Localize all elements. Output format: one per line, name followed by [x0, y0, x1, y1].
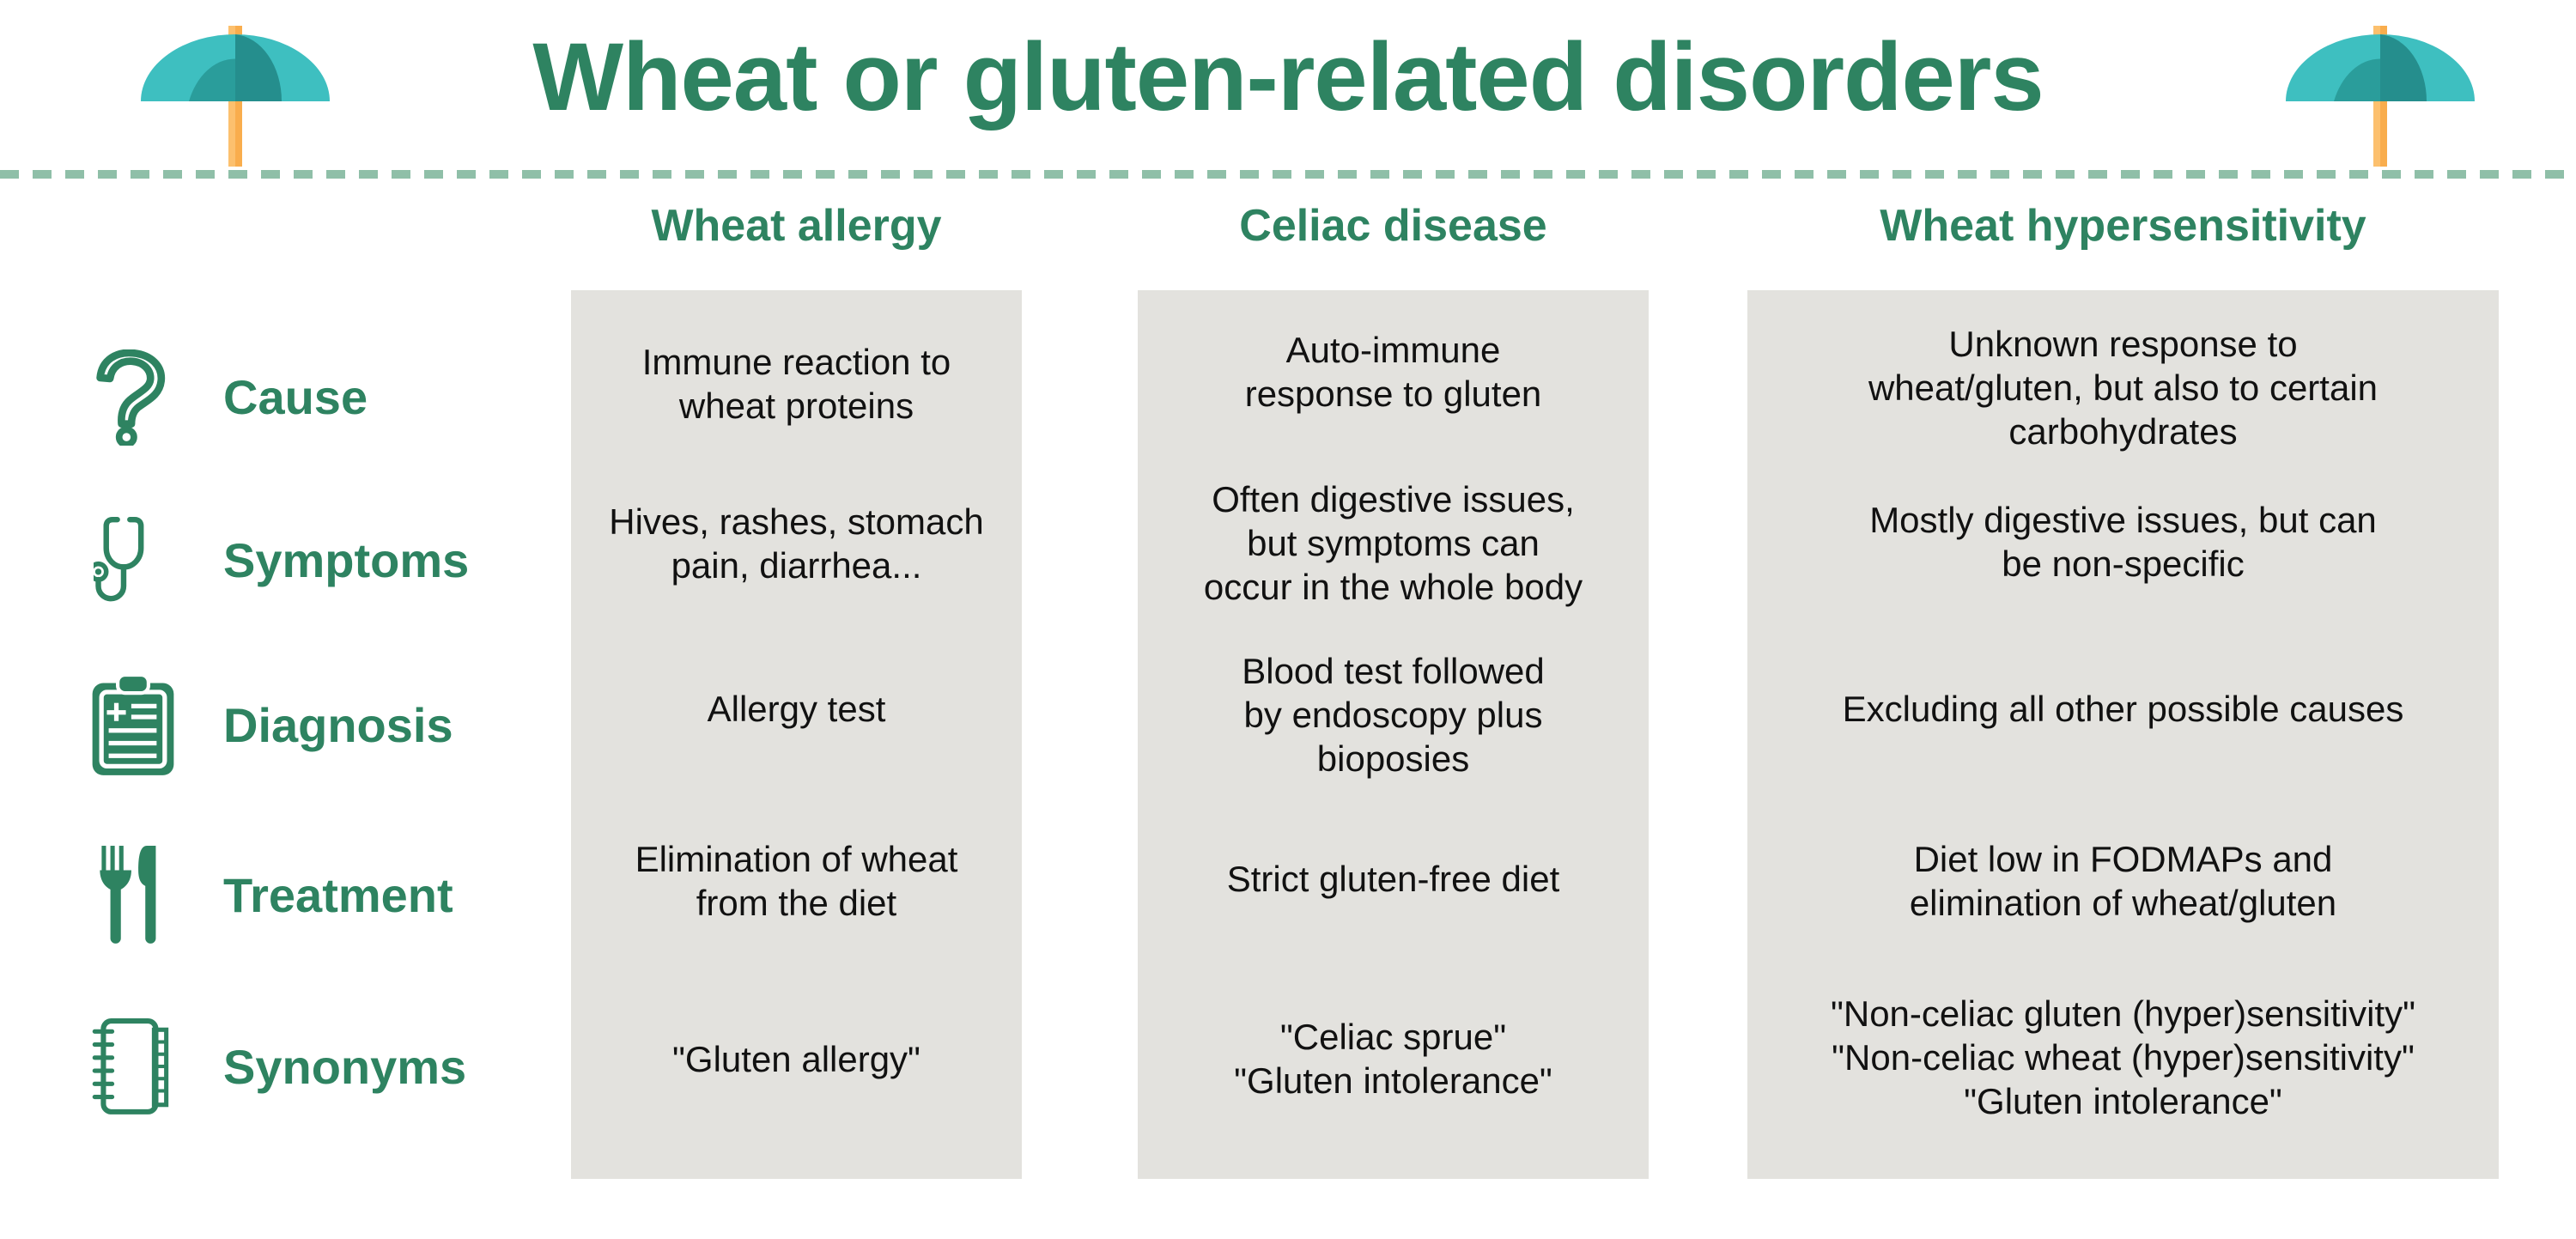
page-header: Wheat or gluten-related disorders [0, 0, 2576, 168]
row-label-diagnosis: Diagnosis [86, 644, 567, 807]
row-label-text: Cause [223, 372, 368, 423]
cell-wheat-allergy-symptoms: Hives, rashes, stomach pain, diarrhea... [571, 500, 1022, 587]
row-label-synonyms: Synonyms [86, 986, 567, 1149]
row-label-symptoms: Symptoms [86, 479, 567, 642]
cell-wheat-allergy-cause: Immune reaction to wheat proteins [571, 340, 1022, 428]
cell-celiac-disease-symptoms: Often digestive issues, but symptoms can… [1138, 477, 1649, 609]
column-header-celiac-disease: Celiac disease [1138, 199, 1649, 252]
page-title: Wheat or gluten-related disorders [0, 24, 2576, 131]
cell-wheat-hypersensitivity-symptoms: Mostly digestive issues, but can be non-… [1747, 498, 2499, 586]
row-label-text: Synonyms [223, 1042, 466, 1093]
cell-wheat-allergy-synonyms: "Gluten allergy" [571, 1037, 1022, 1081]
row-label-treatment: Treatment [86, 814, 567, 977]
column-header-wheat-allergy: Wheat allergy [571, 199, 1022, 252]
column-headers: Wheat allergy Celiac disease Wheat hyper… [0, 199, 2576, 268]
row-label-text: Symptoms [223, 535, 469, 586]
cell-celiac-disease-treatment: Strict gluten-free diet [1138, 857, 1649, 901]
cell-celiac-disease-diagnosis: Blood test followed by endoscopy plus bi… [1138, 649, 1649, 780]
row-label-cause: Cause [86, 316, 567, 479]
cell-wheat-hypersensitivity-cause: Unknown response to wheat/gluten, but al… [1747, 322, 2499, 453]
cell-wheat-hypersensitivity-diagnosis: Excluding all other possible causes [1747, 687, 2499, 731]
cell-wheat-allergy-treatment: Elimination of wheat from the diet [571, 837, 1022, 925]
stethoscope-icon [86, 509, 180, 612]
row-label-text: Treatment [223, 870, 453, 921]
notebook-icon [86, 1016, 180, 1119]
cell-wheat-hypersensitivity-synonyms: "Non-celiac gluten (hyper)sensitivity" "… [1747, 992, 2499, 1123]
clipboard-medical-icon [86, 674, 180, 777]
fork-and-knife-icon [86, 844, 180, 947]
cell-celiac-disease-cause: Auto-immune response to gluten [1138, 328, 1649, 416]
row-label-text: Diagnosis [223, 700, 453, 751]
dashed-divider [0, 170, 2576, 179]
question-mark-icon [86, 346, 180, 449]
column-header-wheat-hypersensitivity: Wheat hypersensitivity [1747, 199, 2499, 252]
cell-wheat-hypersensitivity-treatment: Diet low in FODMAPs and elimination of w… [1747, 837, 2499, 925]
umbrella-icon [2284, 26, 2476, 172]
cell-wheat-allergy-diagnosis: Allergy test [571, 687, 1022, 731]
cell-celiac-disease-synonyms: "Celiac sprue" "Gluten intolerance" [1138, 1015, 1649, 1102]
